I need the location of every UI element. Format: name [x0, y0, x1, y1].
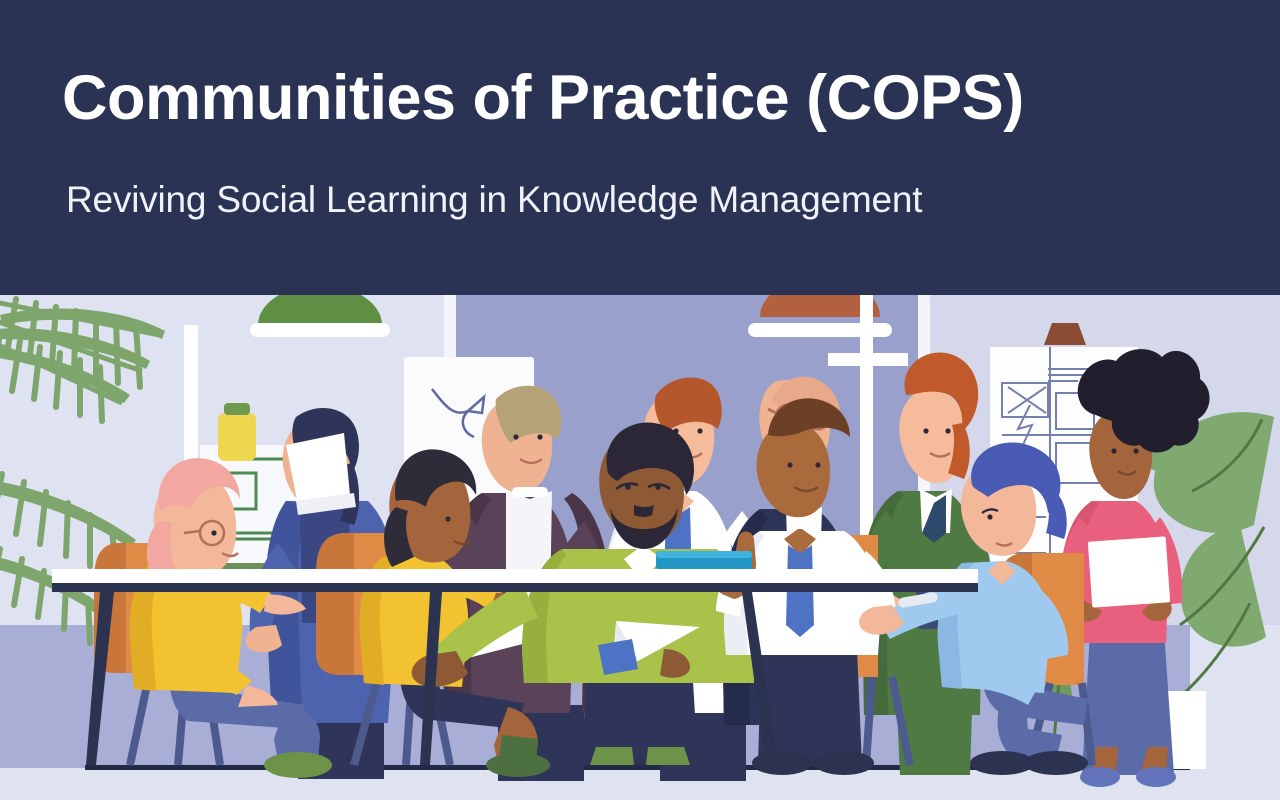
- shoe-left: [1080, 767, 1120, 787]
- pendant-lamp-green: [250, 295, 390, 337]
- title-card: Communities of Practice (COPS) Reviving …: [0, 0, 1280, 800]
- held-document: [1088, 536, 1170, 607]
- header-band: Communities of Practice (COPS) Reviving …: [0, 0, 1280, 295]
- shoe: [486, 753, 550, 777]
- shoe: [264, 752, 332, 778]
- office-collaboration-scene: [0, 295, 1280, 800]
- shoe-right: [1136, 767, 1176, 787]
- hero-illustration: [0, 295, 1280, 800]
- page-title: Communities of Practice (COPS): [62, 66, 1024, 130]
- page-subtitle: Reviving Social Learning in Knowledge Ma…: [66, 180, 922, 221]
- structural-crossbar: [828, 353, 908, 366]
- shoe-right: [1024, 751, 1088, 775]
- structural-post: [860, 295, 873, 555]
